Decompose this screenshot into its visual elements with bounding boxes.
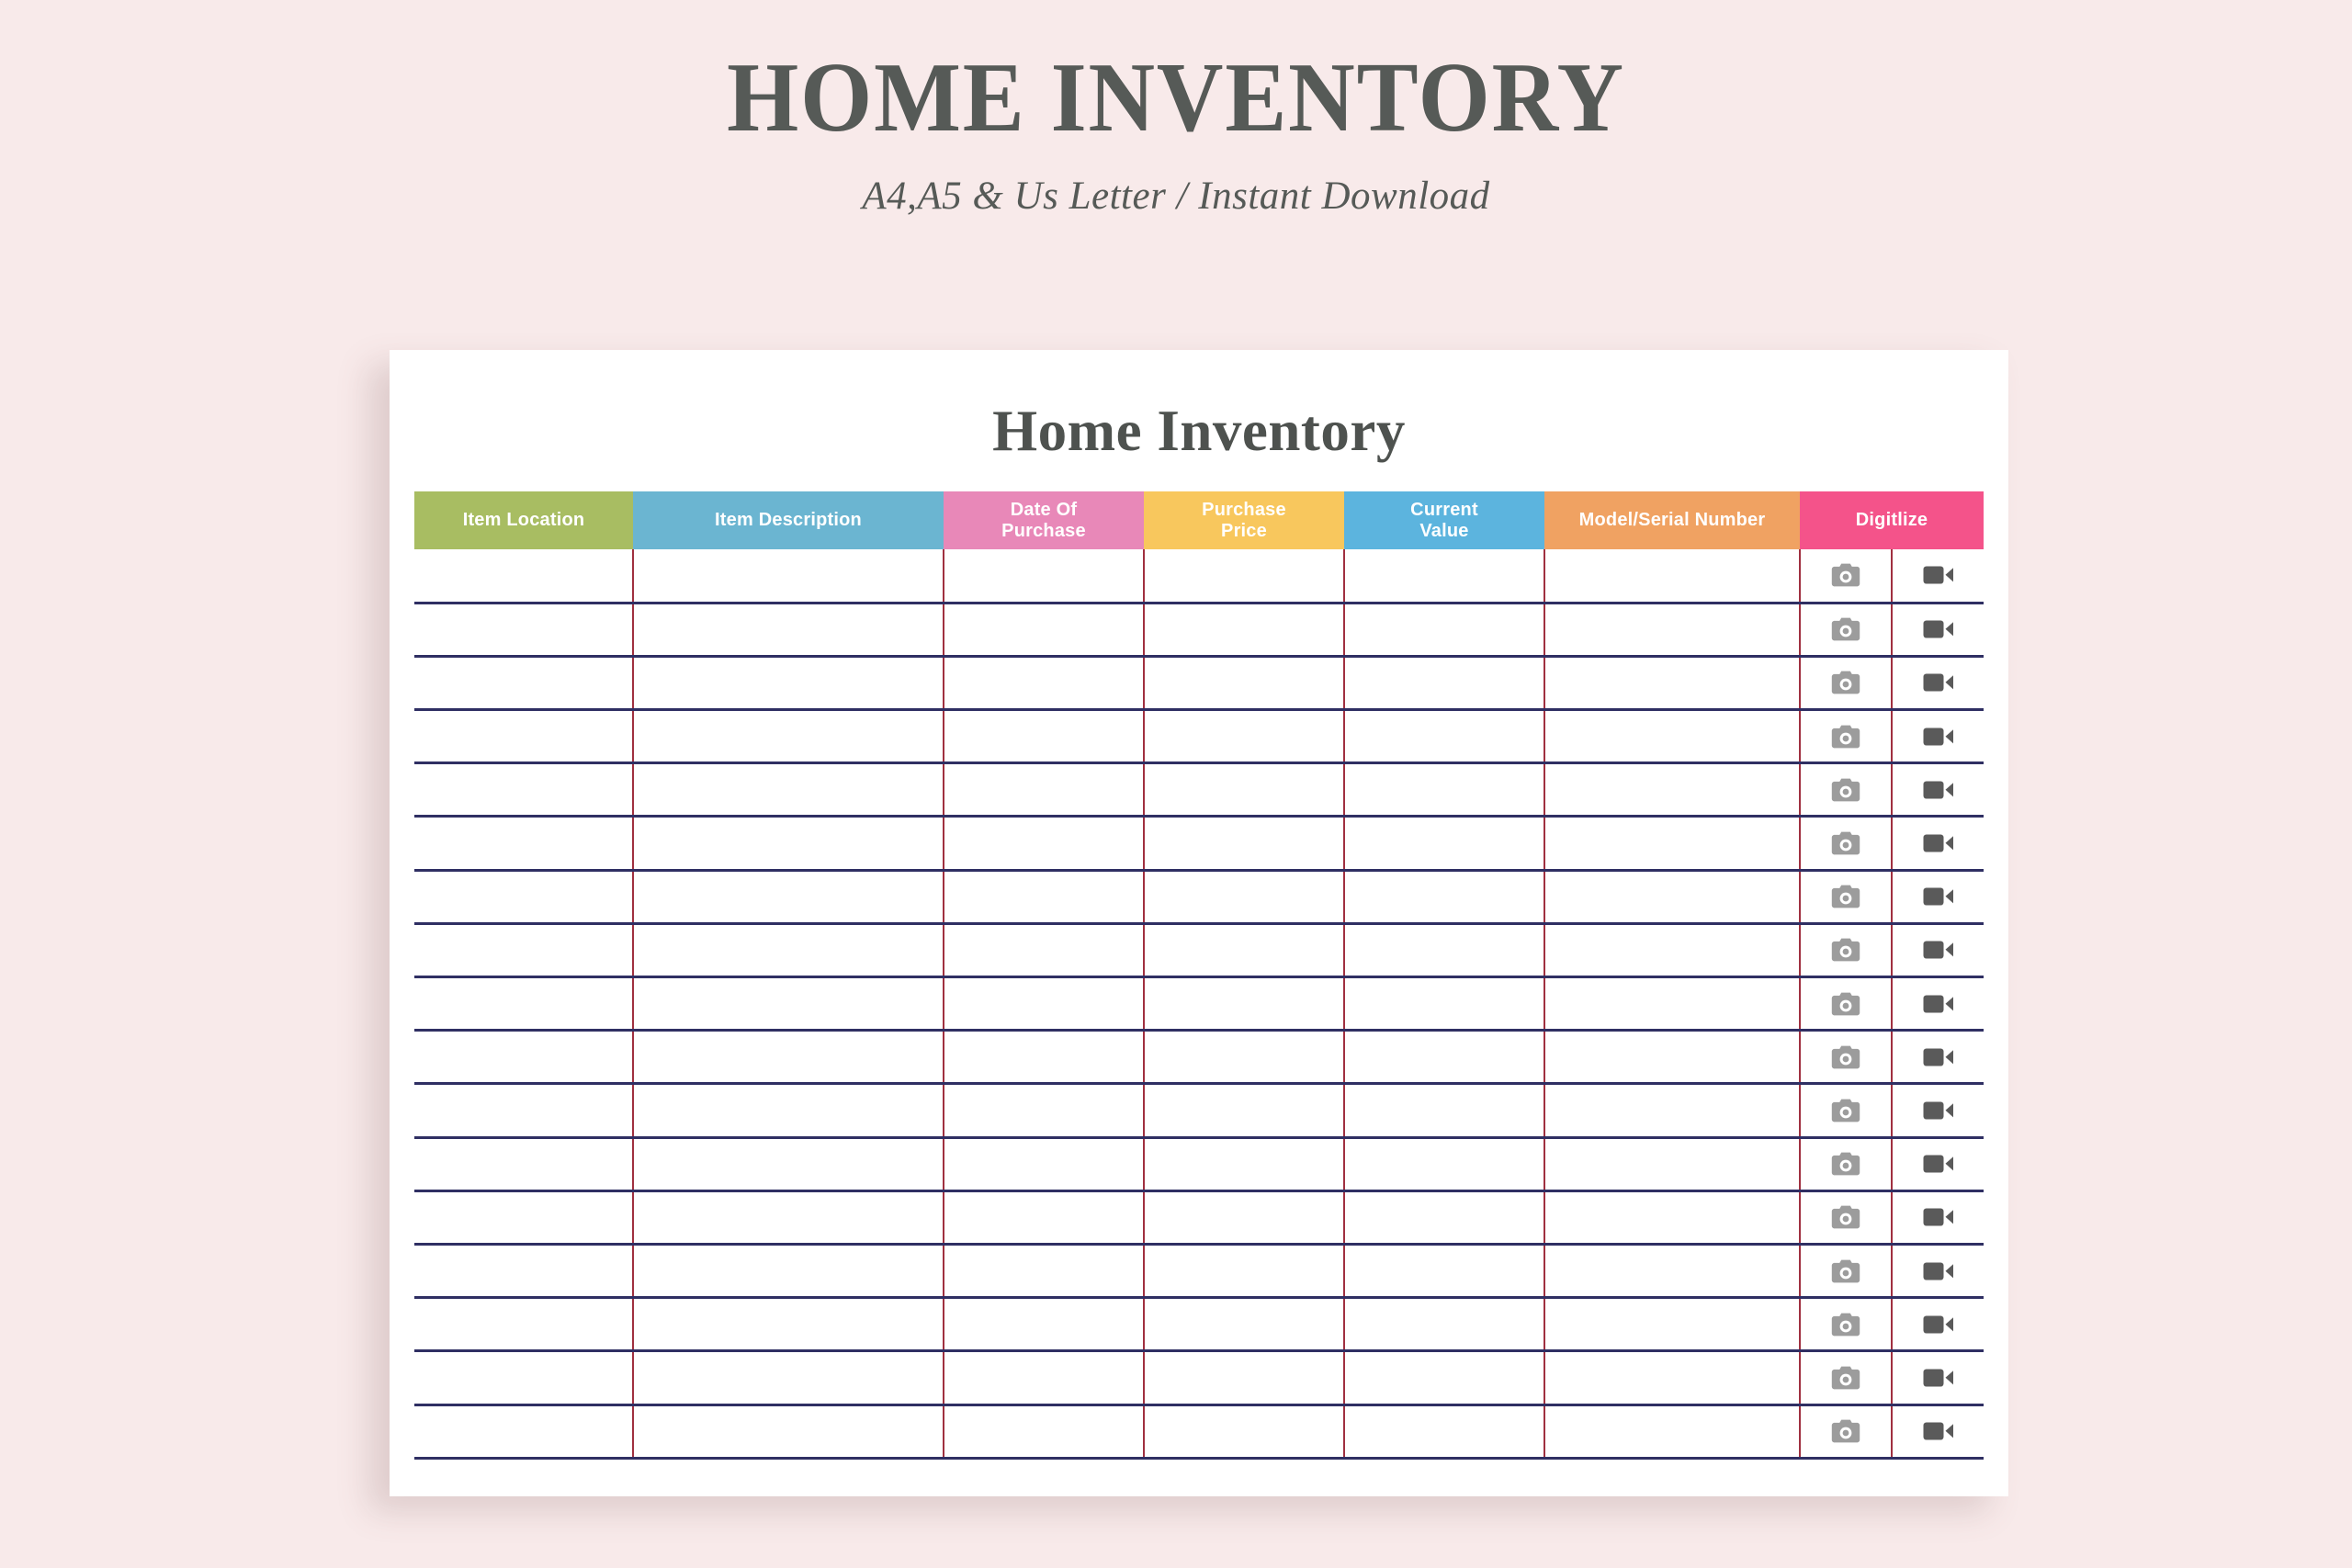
cell-current-value[interactable]	[1344, 1190, 1544, 1244]
camera-icon[interactable]	[1801, 1085, 1891, 1135]
header-cell-date-of-purchase: Date Of Purchase	[944, 491, 1144, 549]
header-label-digitlize: Digitlize	[1856, 510, 1928, 530]
header-row: Item Location Item Description Date Of P…	[414, 491, 1984, 549]
cell-current-value[interactable]	[1344, 1298, 1544, 1351]
header-label-item-description: Item Description	[715, 510, 862, 530]
cell-model-serial[interactable]	[1544, 923, 1800, 976]
cell-purchase-price[interactable]	[1144, 870, 1344, 923]
cell-digitlize-video[interactable]	[1892, 603, 1984, 656]
promo-title: HOME INVENTORY	[83, 0, 2270, 150]
cell-purchase-price[interactable]	[1144, 1137, 1344, 1190]
video-camera-icon[interactable]	[1893, 1352, 1984, 1403]
cell-item-location[interactable]	[414, 603, 633, 656]
cell-digitlize-photo[interactable]	[1800, 1137, 1892, 1190]
cell-digitlize-photo[interactable]	[1800, 923, 1892, 976]
cell-digitlize-photo[interactable]	[1800, 1404, 1892, 1458]
camera-icon[interactable]	[1801, 925, 1891, 976]
cell-digitlize-photo[interactable]	[1800, 1031, 1892, 1084]
table-row	[414, 763, 1984, 817]
header-label-purchase-price: Purchase Price	[1202, 500, 1286, 541]
cell-item-description[interactable]	[633, 603, 944, 656]
header-chip-current-value: Current Value	[1344, 491, 1544, 549]
cell-date-of-purchase[interactable]	[944, 763, 1144, 817]
cell-purchase-price[interactable]	[1144, 1244, 1344, 1297]
table-row	[414, 549, 1984, 603]
video-camera-icon[interactable]	[1893, 925, 1984, 976]
cell-item-location[interactable]	[414, 817, 633, 870]
video-camera-icon[interactable]	[1893, 764, 1984, 815]
camera-icon[interactable]	[1801, 1406, 1891, 1457]
cell-item-location[interactable]	[414, 710, 633, 763]
table-row	[414, 710, 1984, 763]
cell-item-description[interactable]	[633, 977, 944, 1031]
table-row	[414, 923, 1984, 976]
cell-digitlize-video[interactable]	[1892, 1084, 1984, 1137]
promo-header: HOME INVENTORY A4,A5 & Us Letter / Insta…	[0, 0, 2352, 219]
camera-icon[interactable]	[1801, 818, 1891, 868]
cell-digitlize-video[interactable]	[1892, 1031, 1984, 1084]
cell-digitlize-photo[interactable]	[1800, 1190, 1892, 1244]
cell-item-description[interactable]	[633, 1084, 944, 1137]
cell-item-location[interactable]	[414, 549, 633, 603]
header-cell-item-description: Item Description	[633, 491, 944, 549]
cell-model-serial[interactable]	[1544, 817, 1800, 870]
cell-date-of-purchase[interactable]	[944, 1084, 1144, 1137]
cell-item-location[interactable]	[414, 1137, 633, 1190]
table-row	[414, 1244, 1984, 1297]
header-label-model-serial-number: Model/Serial Number	[1579, 510, 1766, 530]
cell-model-serial[interactable]	[1544, 1031, 1800, 1084]
cell-item-description[interactable]	[633, 1244, 944, 1297]
cell-current-value[interactable]	[1344, 603, 1544, 656]
video-camera-icon[interactable]	[1893, 1299, 1984, 1349]
camera-icon[interactable]	[1801, 549, 1891, 602]
header-chip-digitlize: Digitlize	[1800, 491, 1984, 549]
cell-current-value[interactable]	[1344, 817, 1544, 870]
header-chip-date-of-purchase: Date Of Purchase	[944, 491, 1144, 549]
inventory-table-wrapper: Item Location Item Description Date Of P…	[414, 491, 1984, 1460]
sheet-title: Home Inventory	[390, 350, 2008, 465]
cell-date-of-purchase[interactable]	[944, 977, 1144, 1031]
cell-digitlize-video[interactable]	[1892, 817, 1984, 870]
header-cell-model-serial-number: Model/Serial Number	[1544, 491, 1800, 549]
header-cell-purchase-price: Purchase Price	[1144, 491, 1344, 549]
header-cell-item-location: Item Location	[414, 491, 633, 549]
camera-icon[interactable]	[1801, 711, 1891, 761]
cell-item-location[interactable]	[414, 1244, 633, 1297]
cell-item-description[interactable]	[633, 1137, 944, 1190]
cell-date-of-purchase[interactable]	[944, 1244, 1144, 1297]
table-row	[414, 817, 1984, 870]
table-row	[414, 603, 1984, 656]
cell-item-location[interactable]	[414, 923, 633, 976]
cell-current-value[interactable]	[1344, 656, 1544, 709]
cell-purchase-price[interactable]	[1144, 763, 1344, 817]
cell-model-serial[interactable]	[1544, 977, 1800, 1031]
cell-model-serial[interactable]	[1544, 1298, 1800, 1351]
cell-digitlize-photo[interactable]	[1800, 603, 1892, 656]
cell-digitlize-video[interactable]	[1892, 1137, 1984, 1190]
cell-digitlize-photo[interactable]	[1800, 1298, 1892, 1351]
cell-current-value[interactable]	[1344, 1084, 1544, 1137]
cell-current-value[interactable]	[1344, 870, 1544, 923]
cell-item-location[interactable]	[414, 1298, 633, 1351]
cell-purchase-price[interactable]	[1144, 1190, 1344, 1244]
cell-item-description[interactable]	[633, 1190, 944, 1244]
cell-purchase-price[interactable]	[1144, 710, 1344, 763]
cell-date-of-purchase[interactable]	[944, 1190, 1144, 1244]
cell-purchase-price[interactable]	[1144, 977, 1344, 1031]
video-camera-icon[interactable]	[1893, 604, 1984, 655]
table-row	[414, 1404, 1984, 1458]
header-label-line-2: Value	[1419, 521, 1468, 541]
cell-digitlize-photo[interactable]	[1800, 656, 1892, 709]
cell-digitlize-video[interactable]	[1892, 1404, 1984, 1458]
cell-item-description[interactable]	[633, 1351, 944, 1404]
cell-current-value[interactable]	[1344, 1031, 1544, 1084]
cell-digitlize-photo[interactable]	[1800, 763, 1892, 817]
camera-icon[interactable]	[1801, 872, 1891, 922]
cell-date-of-purchase[interactable]	[944, 603, 1144, 656]
cell-date-of-purchase[interactable]	[944, 1351, 1144, 1404]
cell-date-of-purchase[interactable]	[944, 817, 1144, 870]
video-camera-icon[interactable]	[1893, 1139, 1984, 1190]
cell-purchase-price[interactable]	[1144, 1351, 1344, 1404]
cell-date-of-purchase[interactable]	[944, 710, 1144, 763]
cell-digitlize-video[interactable]	[1892, 763, 1984, 817]
cell-item-description[interactable]	[633, 1031, 944, 1084]
table-row	[414, 1084, 1984, 1137]
cell-date-of-purchase[interactable]	[944, 549, 1144, 603]
cell-date-of-purchase[interactable]	[944, 1031, 1144, 1084]
cell-purchase-price[interactable]	[1144, 923, 1344, 976]
cell-digitlize-photo[interactable]	[1800, 1084, 1892, 1137]
cell-date-of-purchase[interactable]	[944, 656, 1144, 709]
camera-icon[interactable]	[1801, 764, 1891, 815]
cell-digitlize-video[interactable]	[1892, 1351, 1984, 1404]
cell-digitlize-photo[interactable]	[1800, 1351, 1892, 1404]
table-row	[414, 1298, 1984, 1351]
cell-model-serial[interactable]	[1544, 870, 1800, 923]
header-cell-current-value: Current Value	[1344, 491, 1544, 549]
cell-digitlize-photo[interactable]	[1800, 977, 1892, 1031]
video-camera-icon[interactable]	[1893, 1085, 1984, 1135]
table-row	[414, 1190, 1984, 1244]
table-row	[414, 1137, 1984, 1190]
cell-digitlize-video[interactable]	[1892, 1244, 1984, 1297]
cell-item-location[interactable]	[414, 1190, 633, 1244]
cell-model-serial[interactable]	[1544, 1244, 1800, 1297]
table-row	[414, 656, 1984, 709]
cell-digitlize-photo[interactable]	[1800, 870, 1892, 923]
header-label-line-1: Date Of	[1011, 500, 1078, 520]
camera-icon[interactable]	[1801, 1192, 1891, 1243]
cell-current-value[interactable]	[1344, 763, 1544, 817]
cell-item-description[interactable]	[633, 817, 944, 870]
cell-item-location[interactable]	[414, 763, 633, 817]
inventory-table: Item Location Item Description Date Of P…	[414, 491, 1984, 1460]
cell-current-value[interactable]	[1344, 710, 1544, 763]
cell-model-serial[interactable]	[1544, 763, 1800, 817]
video-camera-icon[interactable]	[1893, 872, 1984, 922]
cell-digitlize-video[interactable]	[1892, 977, 1984, 1031]
camera-icon[interactable]	[1801, 1299, 1891, 1349]
header-cell-digitlize: Digitlize	[1800, 491, 1984, 549]
cell-item-location[interactable]	[414, 1031, 633, 1084]
cell-model-serial[interactable]	[1544, 710, 1800, 763]
header-chip-item-location: Item Location	[414, 491, 633, 549]
cell-digitlize-video[interactable]	[1892, 656, 1984, 709]
cell-digitlize-video[interactable]	[1892, 1298, 1984, 1351]
header-label-line-1: Purchase	[1202, 500, 1286, 520]
cell-item-description[interactable]	[633, 923, 944, 976]
cell-digitlize-photo[interactable]	[1800, 710, 1892, 763]
video-camera-icon[interactable]	[1893, 1406, 1984, 1457]
cell-current-value[interactable]	[1344, 923, 1544, 976]
cell-digitlize-video[interactable]	[1892, 1190, 1984, 1244]
cell-model-serial[interactable]	[1544, 656, 1800, 709]
cell-purchase-price[interactable]	[1144, 1084, 1344, 1137]
header-label-date-of-purchase: Date Of Purchase	[1001, 500, 1086, 541]
camera-icon[interactable]	[1801, 978, 1891, 1029]
cell-current-value[interactable]	[1344, 1351, 1544, 1404]
cell-item-location[interactable]	[414, 1351, 633, 1404]
camera-icon[interactable]	[1801, 658, 1891, 708]
cell-model-serial[interactable]	[1544, 1404, 1800, 1458]
camera-icon[interactable]	[1801, 1139, 1891, 1190]
cell-item-location[interactable]	[414, 977, 633, 1031]
cell-current-value[interactable]	[1344, 977, 1544, 1031]
cell-digitlize-photo[interactable]	[1800, 549, 1892, 603]
header-chip-item-description: Item Description	[633, 491, 944, 549]
inventory-table-body	[414, 549, 1984, 1458]
cell-digitlize-video[interactable]	[1892, 710, 1984, 763]
camera-icon[interactable]	[1801, 604, 1891, 655]
cell-date-of-purchase[interactable]	[944, 923, 1144, 976]
cell-date-of-purchase[interactable]	[944, 1298, 1144, 1351]
video-camera-icon[interactable]	[1893, 1192, 1984, 1243]
cell-date-of-purchase[interactable]	[944, 1404, 1144, 1458]
cell-model-serial[interactable]	[1544, 549, 1800, 603]
cell-digitlize-video[interactable]	[1892, 923, 1984, 976]
cell-item-description[interactable]	[633, 763, 944, 817]
video-camera-icon[interactable]	[1893, 1246, 1984, 1296]
cell-model-serial[interactable]	[1544, 603, 1800, 656]
cell-digitlize-video[interactable]	[1892, 870, 1984, 923]
cell-current-value[interactable]	[1344, 1244, 1544, 1297]
cell-purchase-price[interactable]	[1144, 549, 1344, 603]
cell-date-of-purchase[interactable]	[944, 1137, 1144, 1190]
cell-item-description[interactable]	[633, 549, 944, 603]
cell-item-description[interactable]	[633, 1404, 944, 1458]
promo-subtitle: A4,A5 & Us Letter / Instant Download	[0, 150, 2352, 219]
video-camera-icon[interactable]	[1893, 818, 1984, 868]
inventory-table-head: Item Location Item Description Date Of P…	[414, 491, 1984, 549]
cell-item-description[interactable]	[633, 710, 944, 763]
cell-purchase-price[interactable]	[1144, 1031, 1344, 1084]
header-label-item-location: Item Location	[463, 510, 585, 530]
cell-digitlize-video[interactable]	[1892, 549, 1984, 603]
video-camera-icon[interactable]	[1893, 711, 1984, 761]
cell-model-serial[interactable]	[1544, 1137, 1800, 1190]
cell-date-of-purchase[interactable]	[944, 870, 1144, 923]
video-camera-icon[interactable]	[1893, 549, 1984, 602]
cell-item-location[interactable]	[414, 1404, 633, 1458]
cell-digitlize-photo[interactable]	[1800, 1244, 1892, 1297]
camera-icon[interactable]	[1801, 1032, 1891, 1082]
table-row	[414, 870, 1984, 923]
cell-item-location[interactable]	[414, 870, 633, 923]
cell-item-location[interactable]	[414, 1084, 633, 1137]
cell-current-value[interactable]	[1344, 549, 1544, 603]
cell-purchase-price[interactable]	[1144, 1404, 1344, 1458]
camera-icon[interactable]	[1801, 1246, 1891, 1296]
cell-purchase-price[interactable]	[1144, 817, 1344, 870]
table-row	[414, 1031, 1984, 1084]
header-chip-purchase-price: Purchase Price	[1144, 491, 1344, 549]
cell-purchase-price[interactable]	[1144, 603, 1344, 656]
inventory-sheet: Home Inventory Item Location Item Descri…	[390, 350, 2008, 1496]
video-camera-icon[interactable]	[1893, 1032, 1984, 1082]
cell-item-description[interactable]	[633, 656, 944, 709]
cell-model-serial[interactable]	[1544, 1351, 1800, 1404]
video-camera-icon[interactable]	[1893, 658, 1984, 708]
cell-current-value[interactable]	[1344, 1137, 1544, 1190]
cell-item-location[interactable]	[414, 656, 633, 709]
camera-icon[interactable]	[1801, 1352, 1891, 1403]
header-label-line-2: Purchase	[1001, 521, 1086, 541]
cell-model-serial[interactable]	[1544, 1190, 1800, 1244]
video-camera-icon[interactable]	[1893, 978, 1984, 1029]
cell-current-value[interactable]	[1344, 1404, 1544, 1458]
cell-item-description[interactable]	[633, 1298, 944, 1351]
table-row	[414, 977, 1984, 1031]
cell-purchase-price[interactable]	[1144, 1298, 1344, 1351]
cell-item-description[interactable]	[633, 870, 944, 923]
table-row	[414, 1351, 1984, 1404]
cell-purchase-price[interactable]	[1144, 656, 1344, 709]
header-label-line-1: Current	[1410, 500, 1478, 520]
header-label-current-value: Current Value	[1410, 500, 1478, 541]
header-label-line-2: Price	[1221, 521, 1267, 541]
cell-digitlize-photo[interactable]	[1800, 817, 1892, 870]
header-chip-model-serial-number: Model/Serial Number	[1544, 491, 1800, 549]
cell-model-serial[interactable]	[1544, 1084, 1800, 1137]
